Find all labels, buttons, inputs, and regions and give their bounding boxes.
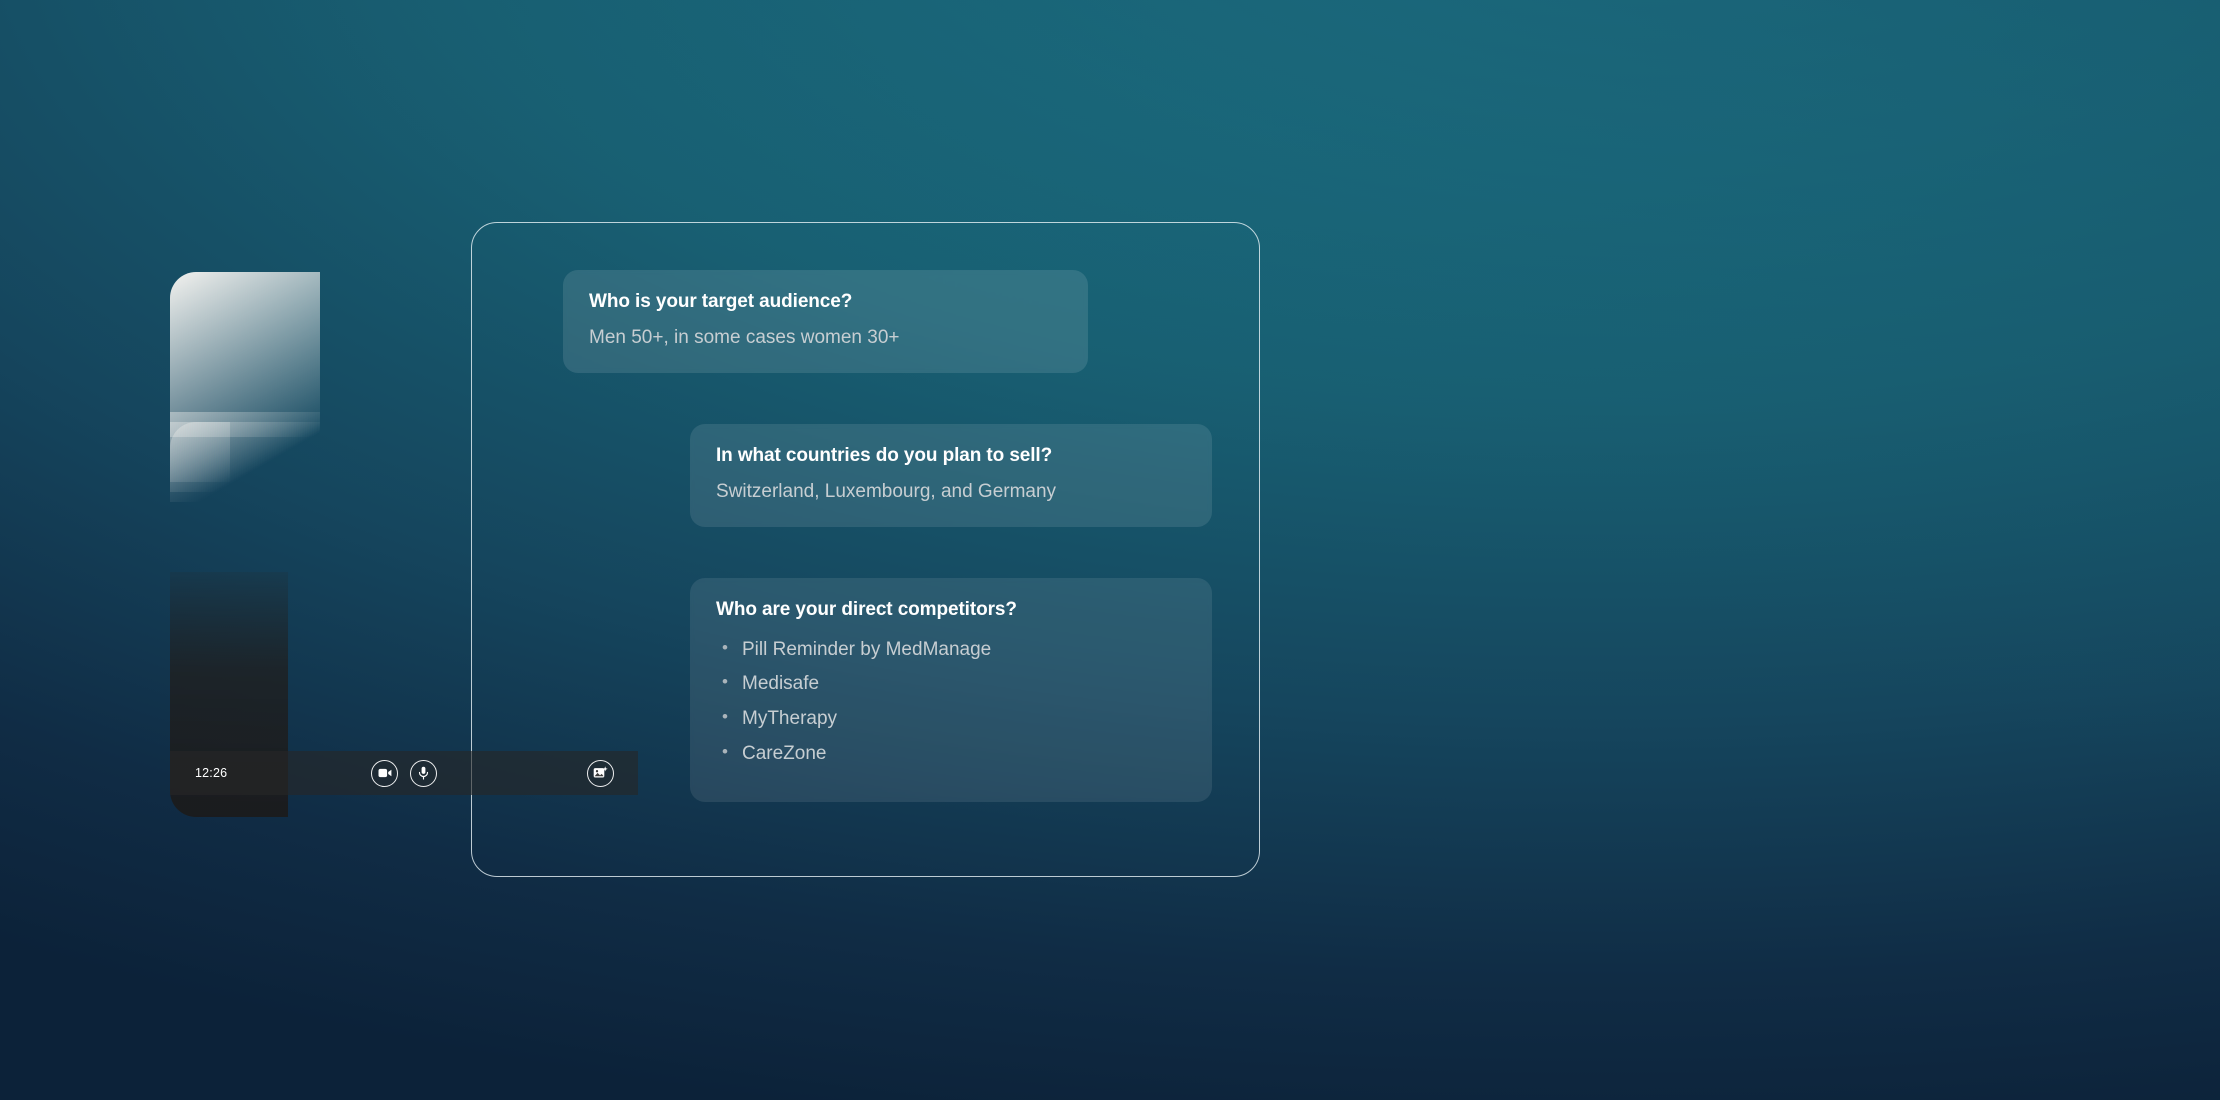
primary-call-controls (371, 760, 437, 787)
answer-card[interactable]: In what countries do you plan to sell? S… (690, 424, 1212, 527)
page-background: 12:26 (0, 0, 2220, 1100)
card-question: Who are your direct competitors? (716, 597, 1186, 623)
microphone-icon (418, 766, 429, 780)
card-answer: Switzerland, Luxembourg, and Germany (716, 478, 1186, 506)
camera-toggle-button[interactable] (371, 760, 398, 787)
list-item: CareZone (716, 741, 1186, 767)
video-panel-corner-fill (170, 422, 230, 482)
answer-card[interactable]: Who is your target audience? Men 50+, in… (563, 270, 1088, 373)
card-question: In what countries do you plan to sell? (716, 443, 1186, 469)
participant-video-feed-corner (170, 422, 230, 482)
secondary-call-controls (587, 760, 614, 787)
video-camera-icon (378, 768, 392, 778)
list-item: Medisafe (716, 671, 1186, 697)
answer-card[interactable]: Who are your direct competitors? Pill Re… (690, 578, 1212, 802)
card-answer: Men 50+, in some cases women 30+ (589, 324, 1062, 352)
video-control-bar: 12:26 (170, 751, 638, 795)
competitor-list: Pill Reminder by MedManage Medisafe MyTh… (716, 637, 1186, 767)
list-item: Pill Reminder by MedManage (716, 637, 1186, 663)
call-timer: 12:26 (195, 766, 227, 780)
background-effects-button[interactable] (587, 760, 614, 787)
microphone-toggle-button[interactable] (410, 760, 437, 787)
card-question: Who is your target audience? (589, 289, 1062, 315)
image-sparkle-icon (593, 766, 608, 780)
list-item: MyTherapy (716, 706, 1186, 732)
